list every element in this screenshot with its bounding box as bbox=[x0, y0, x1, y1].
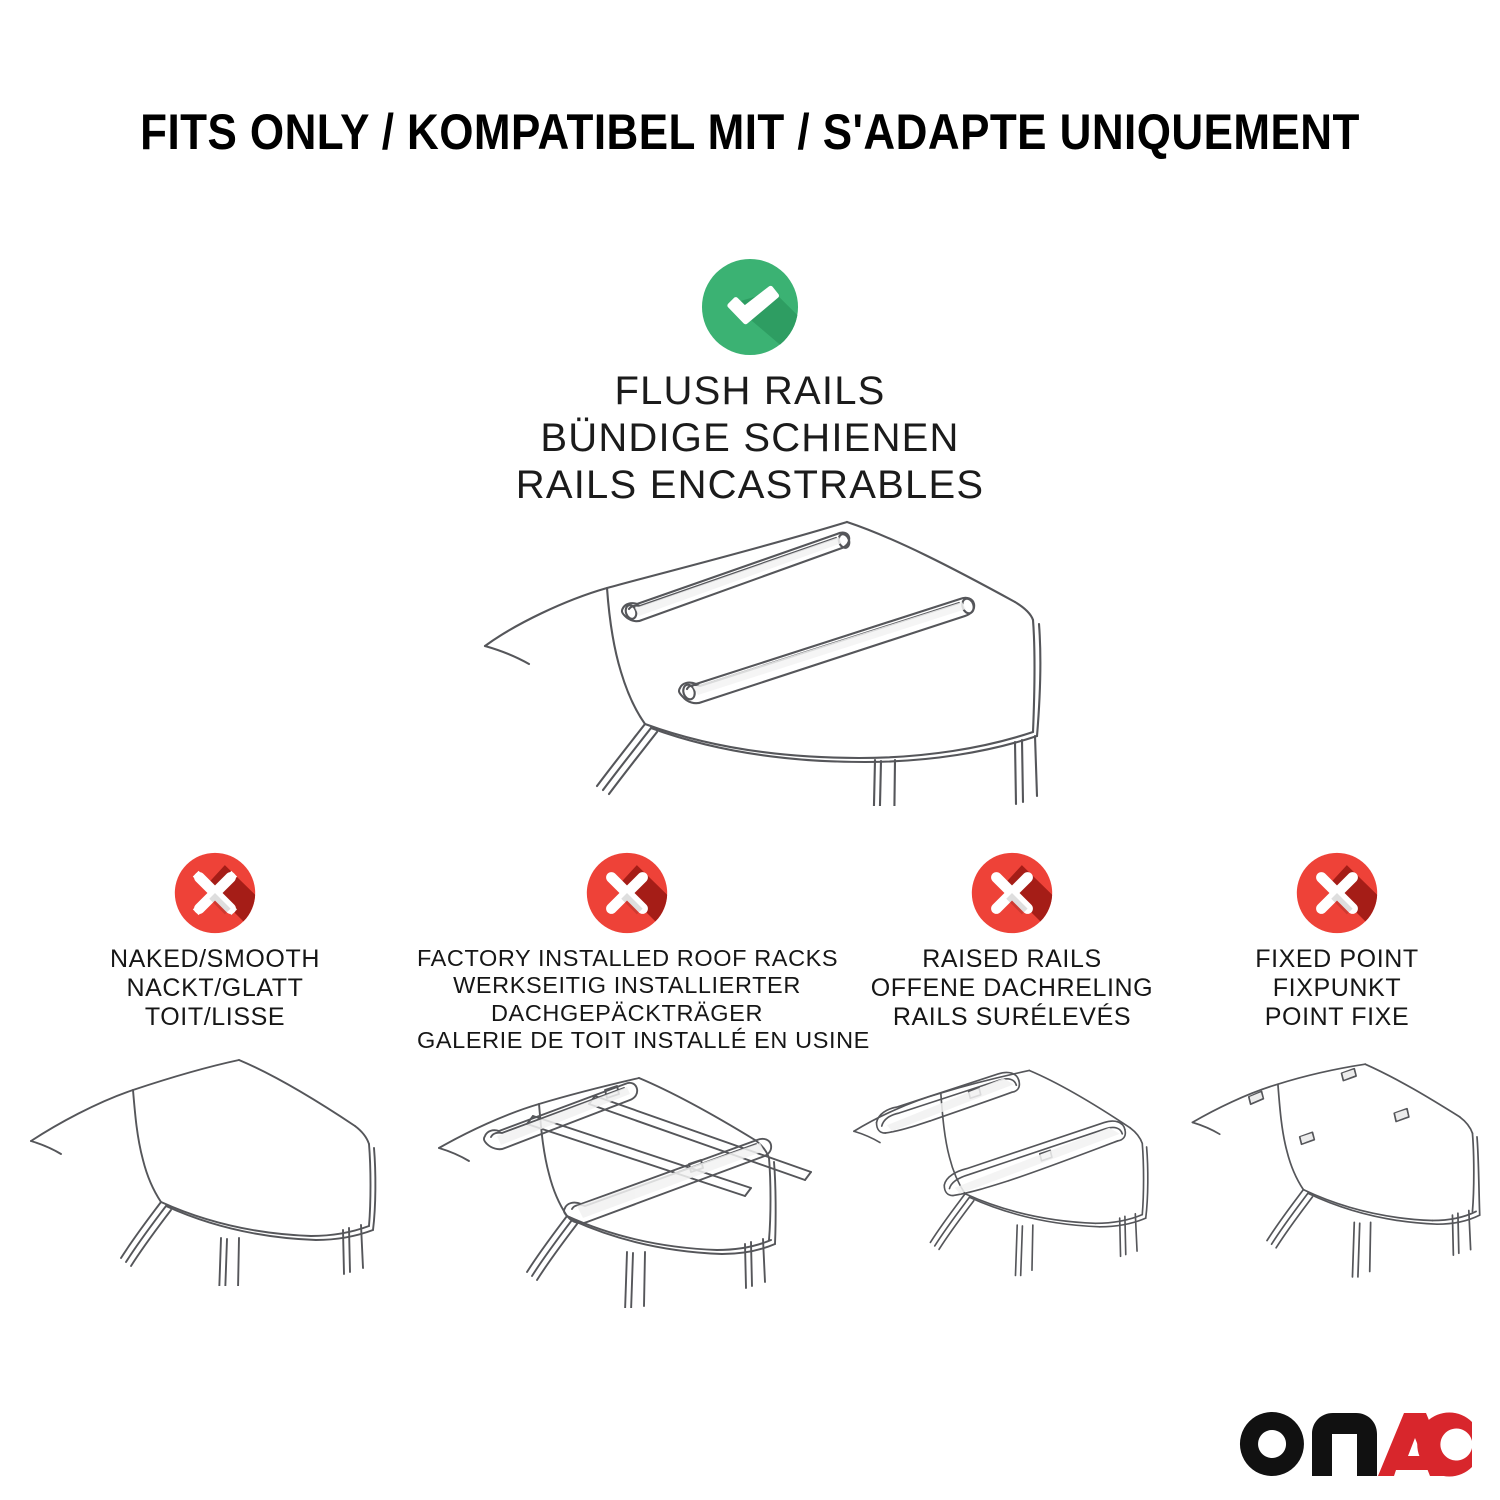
label-line-en: NAKED/SMOOTH bbox=[25, 945, 405, 974]
label-line-de-1: WERKSEITIG INSTALLIERTER bbox=[417, 972, 837, 999]
cross-circle-icon bbox=[971, 852, 1053, 934]
label-line-de: OFFENE DACHRELING bbox=[847, 974, 1177, 1003]
label-line-fr: TOIT/LISSE bbox=[25, 1003, 405, 1032]
label-line-en: FIXED POINT bbox=[1187, 945, 1487, 974]
car-roof-fixed-points-illustration bbox=[1187, 1046, 1487, 1286]
car-roof-with-flush-rails-illustration bbox=[455, 496, 1065, 806]
incompatible-labels-factory-roof-racks: FACTORY INSTALLED ROOF RACKS WERKSEITIG … bbox=[417, 945, 837, 1054]
compatible-labels: FLUSH RAILS BÜNDIGE SCHIENEN RAILS ENCAS… bbox=[0, 368, 1500, 510]
incompatible-labels-raised-rails: RAISED RAILS OFFENE DACHRELING RAILS SUR… bbox=[847, 945, 1177, 1032]
label-line-fr: POINT FIXE bbox=[1187, 1003, 1487, 1032]
incompatible-item-factory-roof-racks: FACTORY INSTALLED ROOF RACKS WERKSEITIG … bbox=[417, 852, 837, 1308]
label-line-en: FACTORY INSTALLED ROOF RACKS bbox=[417, 945, 837, 972]
incompatible-labels-naked-smooth: NAKED/SMOOTH NACKT/GLATT TOIT/LISSE bbox=[25, 945, 405, 1032]
label-line-fr: GALERIE DE TOIT INSTALLÉ EN USINE bbox=[417, 1027, 837, 1054]
cross-circle-icon bbox=[174, 852, 256, 934]
car-roof-with-factory-crossbars-illustration bbox=[417, 1068, 837, 1308]
label-line-en: RAISED RAILS bbox=[847, 945, 1177, 974]
label-line-de-2: DACHGEPÄCKTRÄGER bbox=[417, 1000, 837, 1027]
car-roof-with-raised-rails-illustration bbox=[847, 1046, 1177, 1286]
compatible-section: FLUSH RAILS BÜNDIGE SCHIENEN RAILS ENCAS… bbox=[0, 258, 1500, 510]
compatible-label-en: FLUSH RAILS bbox=[0, 368, 1500, 415]
incompatible-item-fixed-point: FIXED POINT FIXPUNKT POINT FIXE bbox=[1187, 852, 1487, 1286]
cross-circle-icon bbox=[1296, 852, 1378, 934]
label-line-de: NACKT/GLATT bbox=[25, 974, 405, 1003]
incompatible-item-naked-smooth: NAKED/SMOOTH NACKT/GLATT TOIT/LISSE bbox=[25, 852, 405, 1286]
omac-logo bbox=[1236, 1408, 1474, 1480]
label-line-de: FIXPUNKT bbox=[1187, 974, 1487, 1003]
incompatible-section: NAKED/SMOOTH NACKT/GLATT TOIT/LISSE bbox=[0, 852, 1500, 1308]
compatible-label-de: BÜNDIGE SCHIENEN bbox=[0, 415, 1500, 462]
page-title-bar: FITS ONLY / KOMPATIBEL MIT / S'ADAPTE UN… bbox=[0, 103, 1500, 161]
car-roof-bare-illustration bbox=[25, 1046, 405, 1286]
cross-circle-icon bbox=[586, 852, 668, 934]
check-circle-icon bbox=[701, 258, 799, 356]
label-line-fr: RAILS SURÉLEVÉS bbox=[847, 1003, 1177, 1032]
incompatible-item-raised-rails: RAISED RAILS OFFENE DACHRELING RAILS SUR… bbox=[847, 852, 1177, 1286]
incompatible-labels-fixed-point: FIXED POINT FIXPUNKT POINT FIXE bbox=[1187, 945, 1487, 1032]
page-title: FITS ONLY / KOMPATIBEL MIT / S'ADAPTE UN… bbox=[140, 103, 1360, 161]
